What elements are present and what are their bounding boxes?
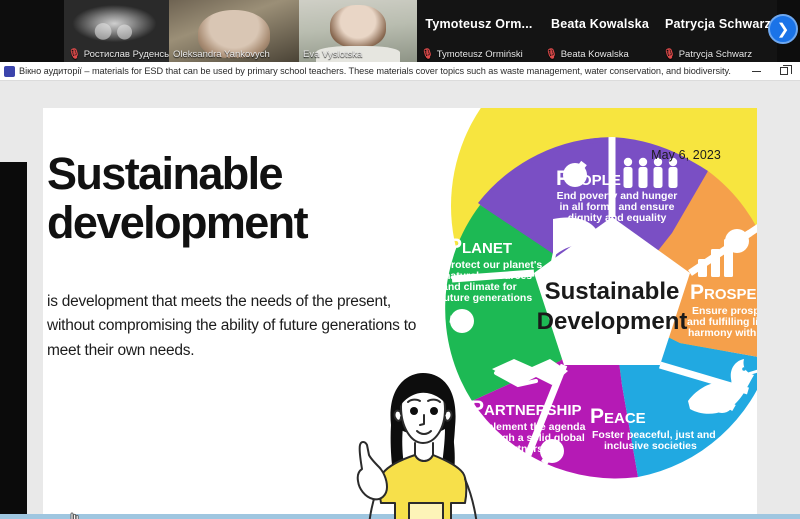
hand-pointer-cursor (66, 510, 82, 519)
slide-body-text: is development that meets the needs of t… (47, 290, 425, 363)
svg-text:inclusive societies: inclusive societies (604, 440, 697, 452)
app-icon (4, 66, 15, 77)
slide-date: May 6, 2023 (651, 148, 721, 162)
microphone-muted-icon: 🎙 (68, 50, 81, 60)
label-planet-rest: LANET (462, 240, 512, 257)
screen-root: 🎙 Ростислав Руденський Oleksandra Yankov… (0, 0, 800, 519)
wheel-center-line1: Sustainable (545, 278, 680, 305)
participant-name-text: Oleksandra Yankovych (173, 49, 270, 60)
slide-viewport[interactable]: May 6, 2023 Sustainable development is d… (0, 81, 800, 519)
label-peace-rest: EACE (604, 410, 646, 427)
chevron-right-icon[interactable]: ❯ (768, 14, 798, 44)
video-tile-oleksandra[interactable]: Oleksandra Yankovych (169, 0, 299, 62)
label-people-rest: EOPLE (570, 172, 621, 189)
presentation-slide: May 6, 2023 Sustainable development is d… (43, 108, 757, 519)
participant-name-text: Tymoteusz Ormiński (437, 49, 523, 60)
video-tile-tymoteusz[interactable]: Tymoteusz Orm... 🎙 Tymoteusz Ormiński (417, 0, 541, 62)
girl-pointing-illustration (339, 367, 499, 519)
microphone-muted-icon: 🎙 (421, 50, 434, 60)
label-peace-initial: P (590, 405, 604, 428)
video-tile[interactable] (0, 0, 64, 62)
minimize-icon[interactable] (742, 62, 770, 81)
viewport-left-margin (0, 162, 27, 519)
microphone-muted-icon: 🎙 (663, 50, 676, 60)
app-window: Вікно аудиторії – materials for ESD that… (0, 62, 800, 519)
participant-display-name: Beata Kowalska (541, 0, 659, 47)
label-prosperity-rest: ROSPERITY (704, 286, 757, 303)
participant-name-label: 🎙 Patrycja Schwarz (659, 47, 756, 62)
label-planet-initial: P (448, 235, 462, 258)
participant-name-text: Patrycja Schwarz (679, 49, 752, 60)
video-filmstrip: 🎙 Ростислав Руденський Oleksandra Yankov… (0, 0, 800, 62)
video-tile-eva[interactable]: Eva Vyslotska (299, 0, 417, 62)
participant-display-name: Patrycja Schwarz (659, 0, 777, 47)
video-tile-patrycja[interactable]: Patrycja Schwarz 🎙 Patrycja Schwarz (659, 0, 777, 62)
participant-name-text: Eva Vyslotska (303, 49, 362, 60)
window-controls (742, 62, 798, 81)
participant-name-text: Ростислав Руденський (84, 49, 169, 60)
svg-text:partnership: partnership (501, 443, 559, 455)
window-titlebar[interactable]: Вікно аудиторії – materials for ESD that… (0, 62, 800, 81)
participant-name-label: Oleksandra Yankovych (169, 47, 274, 62)
microphone-muted-icon: 🎙 (545, 50, 558, 60)
participant-name-label: 🎙 Beata Kowalska (541, 47, 633, 62)
participant-name-label: 🎙 Tymoteusz Ormiński (417, 47, 527, 62)
label-prosperity-initial: P (690, 281, 704, 304)
wheel-center-line2: Development (537, 308, 688, 335)
restore-icon[interactable] (770, 62, 798, 81)
participant-display-name: Tymoteusz Orm... (417, 0, 541, 47)
video-tile-rostyslav[interactable]: 🎙 Ростислав Руденський (64, 0, 169, 62)
participant-name-label: Eva Vyslotska (299, 47, 366, 62)
svg-text:harmony with nature: harmony with nature (688, 327, 757, 339)
video-tile-beata[interactable]: Beata Kowalska 🎙 Beata Kowalska (541, 0, 659, 62)
participant-name-label: 🎙 Ростислав Руденський (64, 47, 169, 62)
slide-headline: Sustainable development (47, 150, 427, 247)
participant-name-text: Beata Kowalska (561, 49, 629, 60)
window-title: Вікно аудиторії – materials for ESD that… (19, 66, 742, 76)
svg-text:future generations: future generations (440, 292, 532, 304)
label-people-initial: P (556, 167, 570, 190)
